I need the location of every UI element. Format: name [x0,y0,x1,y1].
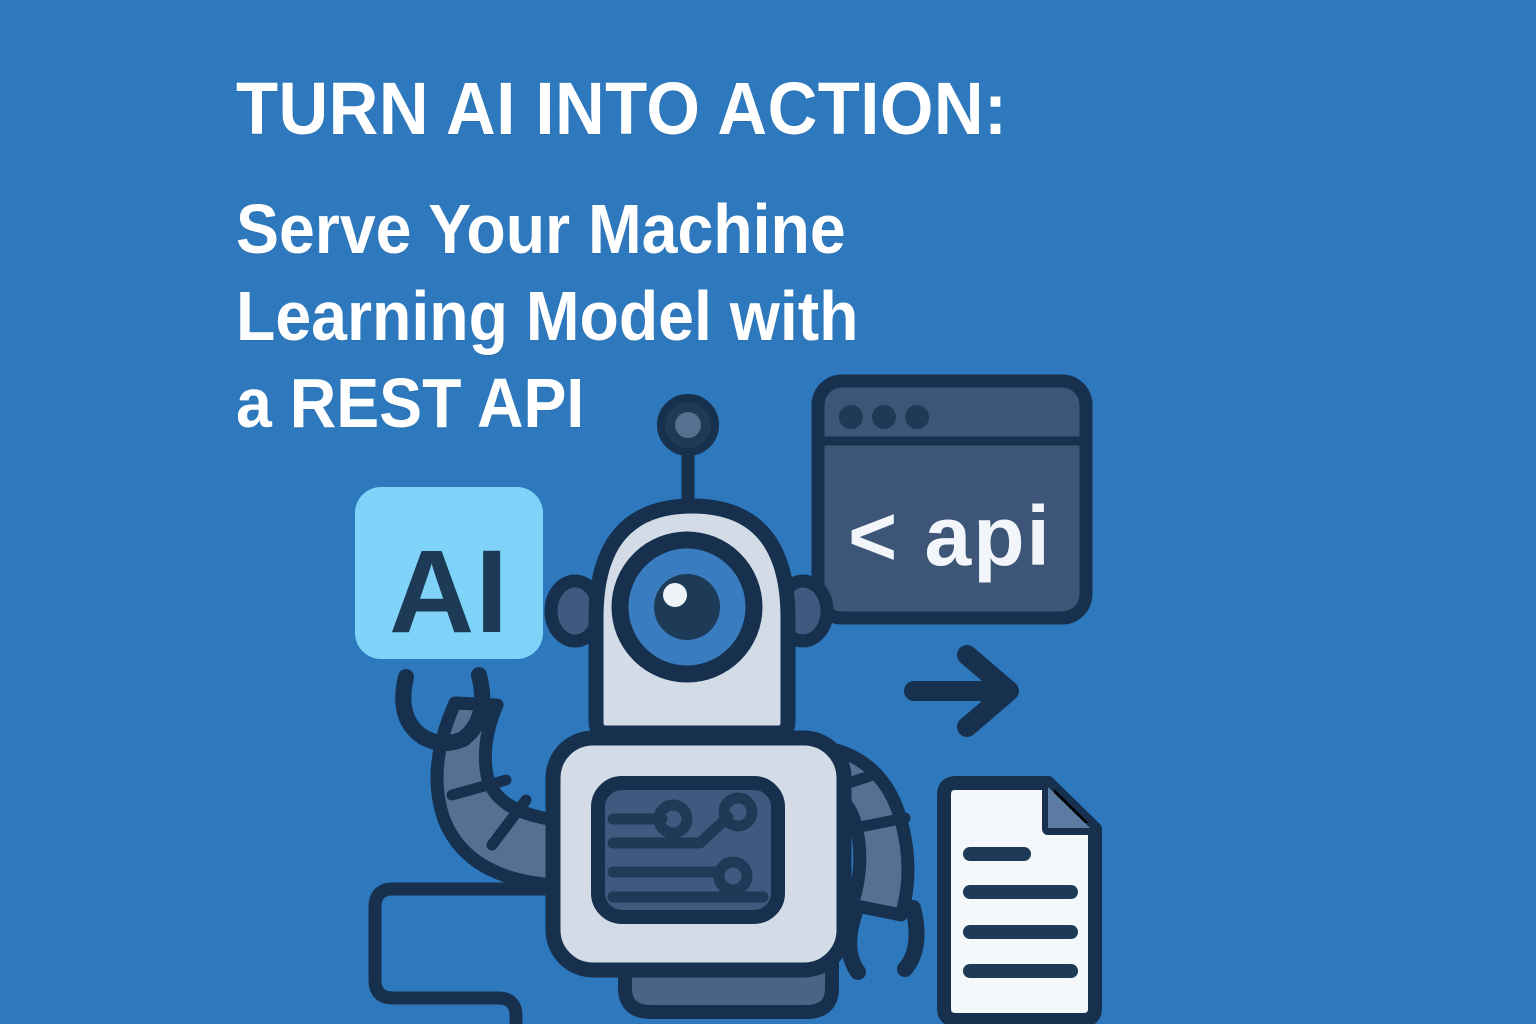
ai-badge-label: AI [389,526,509,658]
robot-head [596,506,788,733]
window-dot-1 [839,405,863,429]
window-dot-2 [872,405,896,429]
robot-eye [620,540,754,674]
left-claw-base [423,737,463,743]
illustration-layer: < api AI [0,0,1536,1024]
poster-canvas: < api AI [0,0,1536,1024]
ai-badge[interactable]: AI [355,487,543,659]
document-line-3 [963,925,1078,939]
document-line-2 [963,885,1078,899]
api-window[interactable]: < api [818,381,1086,618]
window-dot-3 [905,405,929,429]
robot-torso [553,738,844,970]
api-code-text: < api [848,489,1052,583]
eye-pupil [654,574,720,640]
antenna-ball-inner [675,412,701,438]
document-line-4 [963,964,1078,978]
document-line-1 [963,847,1031,861]
document-icon[interactable] [944,783,1095,1020]
api-window-dots [839,405,929,429]
eye-highlight [663,583,687,607]
